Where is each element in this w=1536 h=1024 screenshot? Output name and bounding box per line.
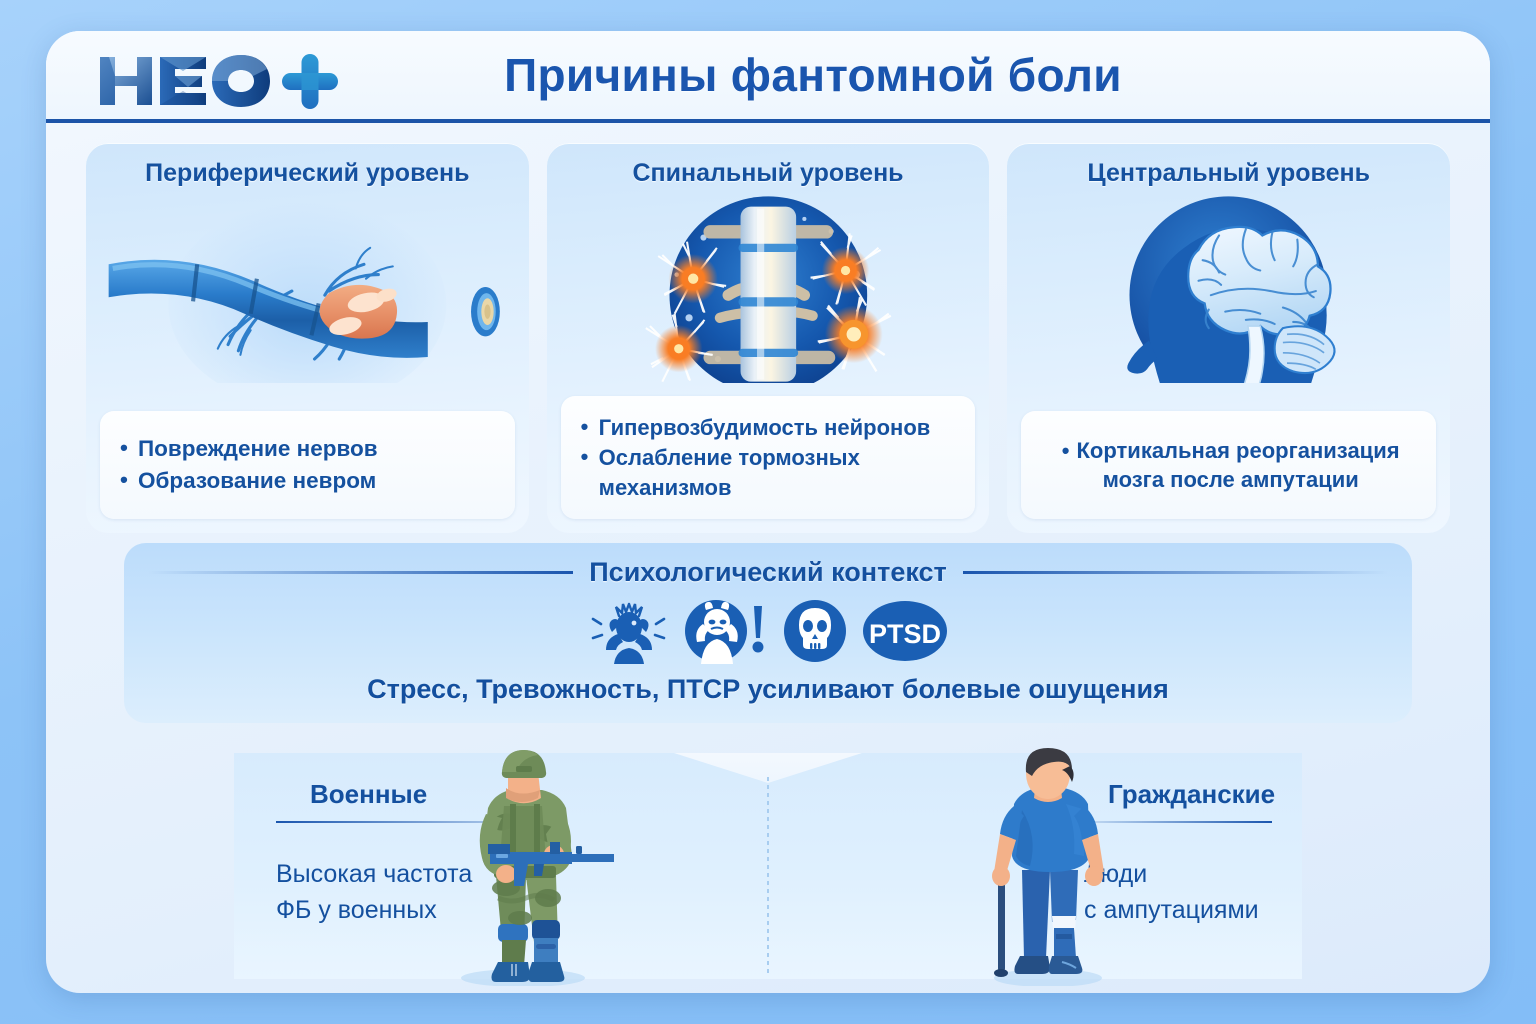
group-title-civilian: Гражданские [1108,779,1275,810]
level-card-title: Спинальный уровень [547,159,990,188]
header-rule-right [963,571,1388,574]
bullet-item: Образование невром [118,466,501,496]
soldier-with-prosthetic-leg-illustration [430,748,616,991]
level-card-spinal: Спинальный уровень [547,143,990,533]
bullet-item: Повреждение нервов [118,434,501,464]
psychological-context-title: Психологический контекст [589,557,946,588]
brain-head-profile-illustration [1007,195,1450,383]
bullet-item: Ослабление тормозных механизмов [579,443,962,502]
civilian-with-cane-and-prosthetic-leg-illustration [970,748,1120,991]
ptsd-badge-label: PTSD [869,619,941,649]
bullet-item: Кортикальная реорганизация мозга после а… [1039,436,1422,495]
anxious-person-exclamation-icon [684,598,768,664]
groups-row: Военные Высокая частота ФБ у военных Гра… [234,753,1302,979]
spinal-cord-neurons-illustration [547,195,990,383]
bullet-item: Гипервозбудимость нейронов [579,413,962,442]
header-rule-left [148,571,573,574]
level-card-central: Центральный уровень [1007,143,1450,533]
psychological-context-caption: Стресс, Тревожность, ПТСР усиливают боле… [124,674,1412,705]
level-card-peripheral: Периферический уровень [86,143,529,533]
nerve-neuroma-illustration [86,195,529,383]
header-bar: Причины фантомной боли [46,31,1490,123]
level-card-title: Центральный уровень [1007,159,1450,188]
level-card-title: Периферический уровень [86,159,529,188]
panel-divider [767,777,769,973]
psychological-icons-row: PTSD [124,595,1412,667]
page-title: Причины фантомной боли [46,31,1490,119]
skull-icon [782,598,848,664]
group-title-military: Военные [310,779,427,810]
level-bullets-spinal: Гипервозбудимость нейронов Ослабление то… [561,396,976,519]
ptsd-badge-icon: PTSD [862,600,948,662]
level-bullets-peripheral: Повреждение нервов Образование невром [100,411,515,519]
psychological-context-header: Психологический контекст [124,557,1412,588]
levels-row: Периферический уровень [86,143,1450,533]
level-bullets-central: Кортикальная реорганизация мозга после а… [1021,411,1436,519]
infographic-frame: Причины фантомной боли Периферический ур… [46,31,1490,993]
stressed-person-icon [588,598,670,664]
psychological-context-panel: Психологический контекст [124,543,1412,723]
